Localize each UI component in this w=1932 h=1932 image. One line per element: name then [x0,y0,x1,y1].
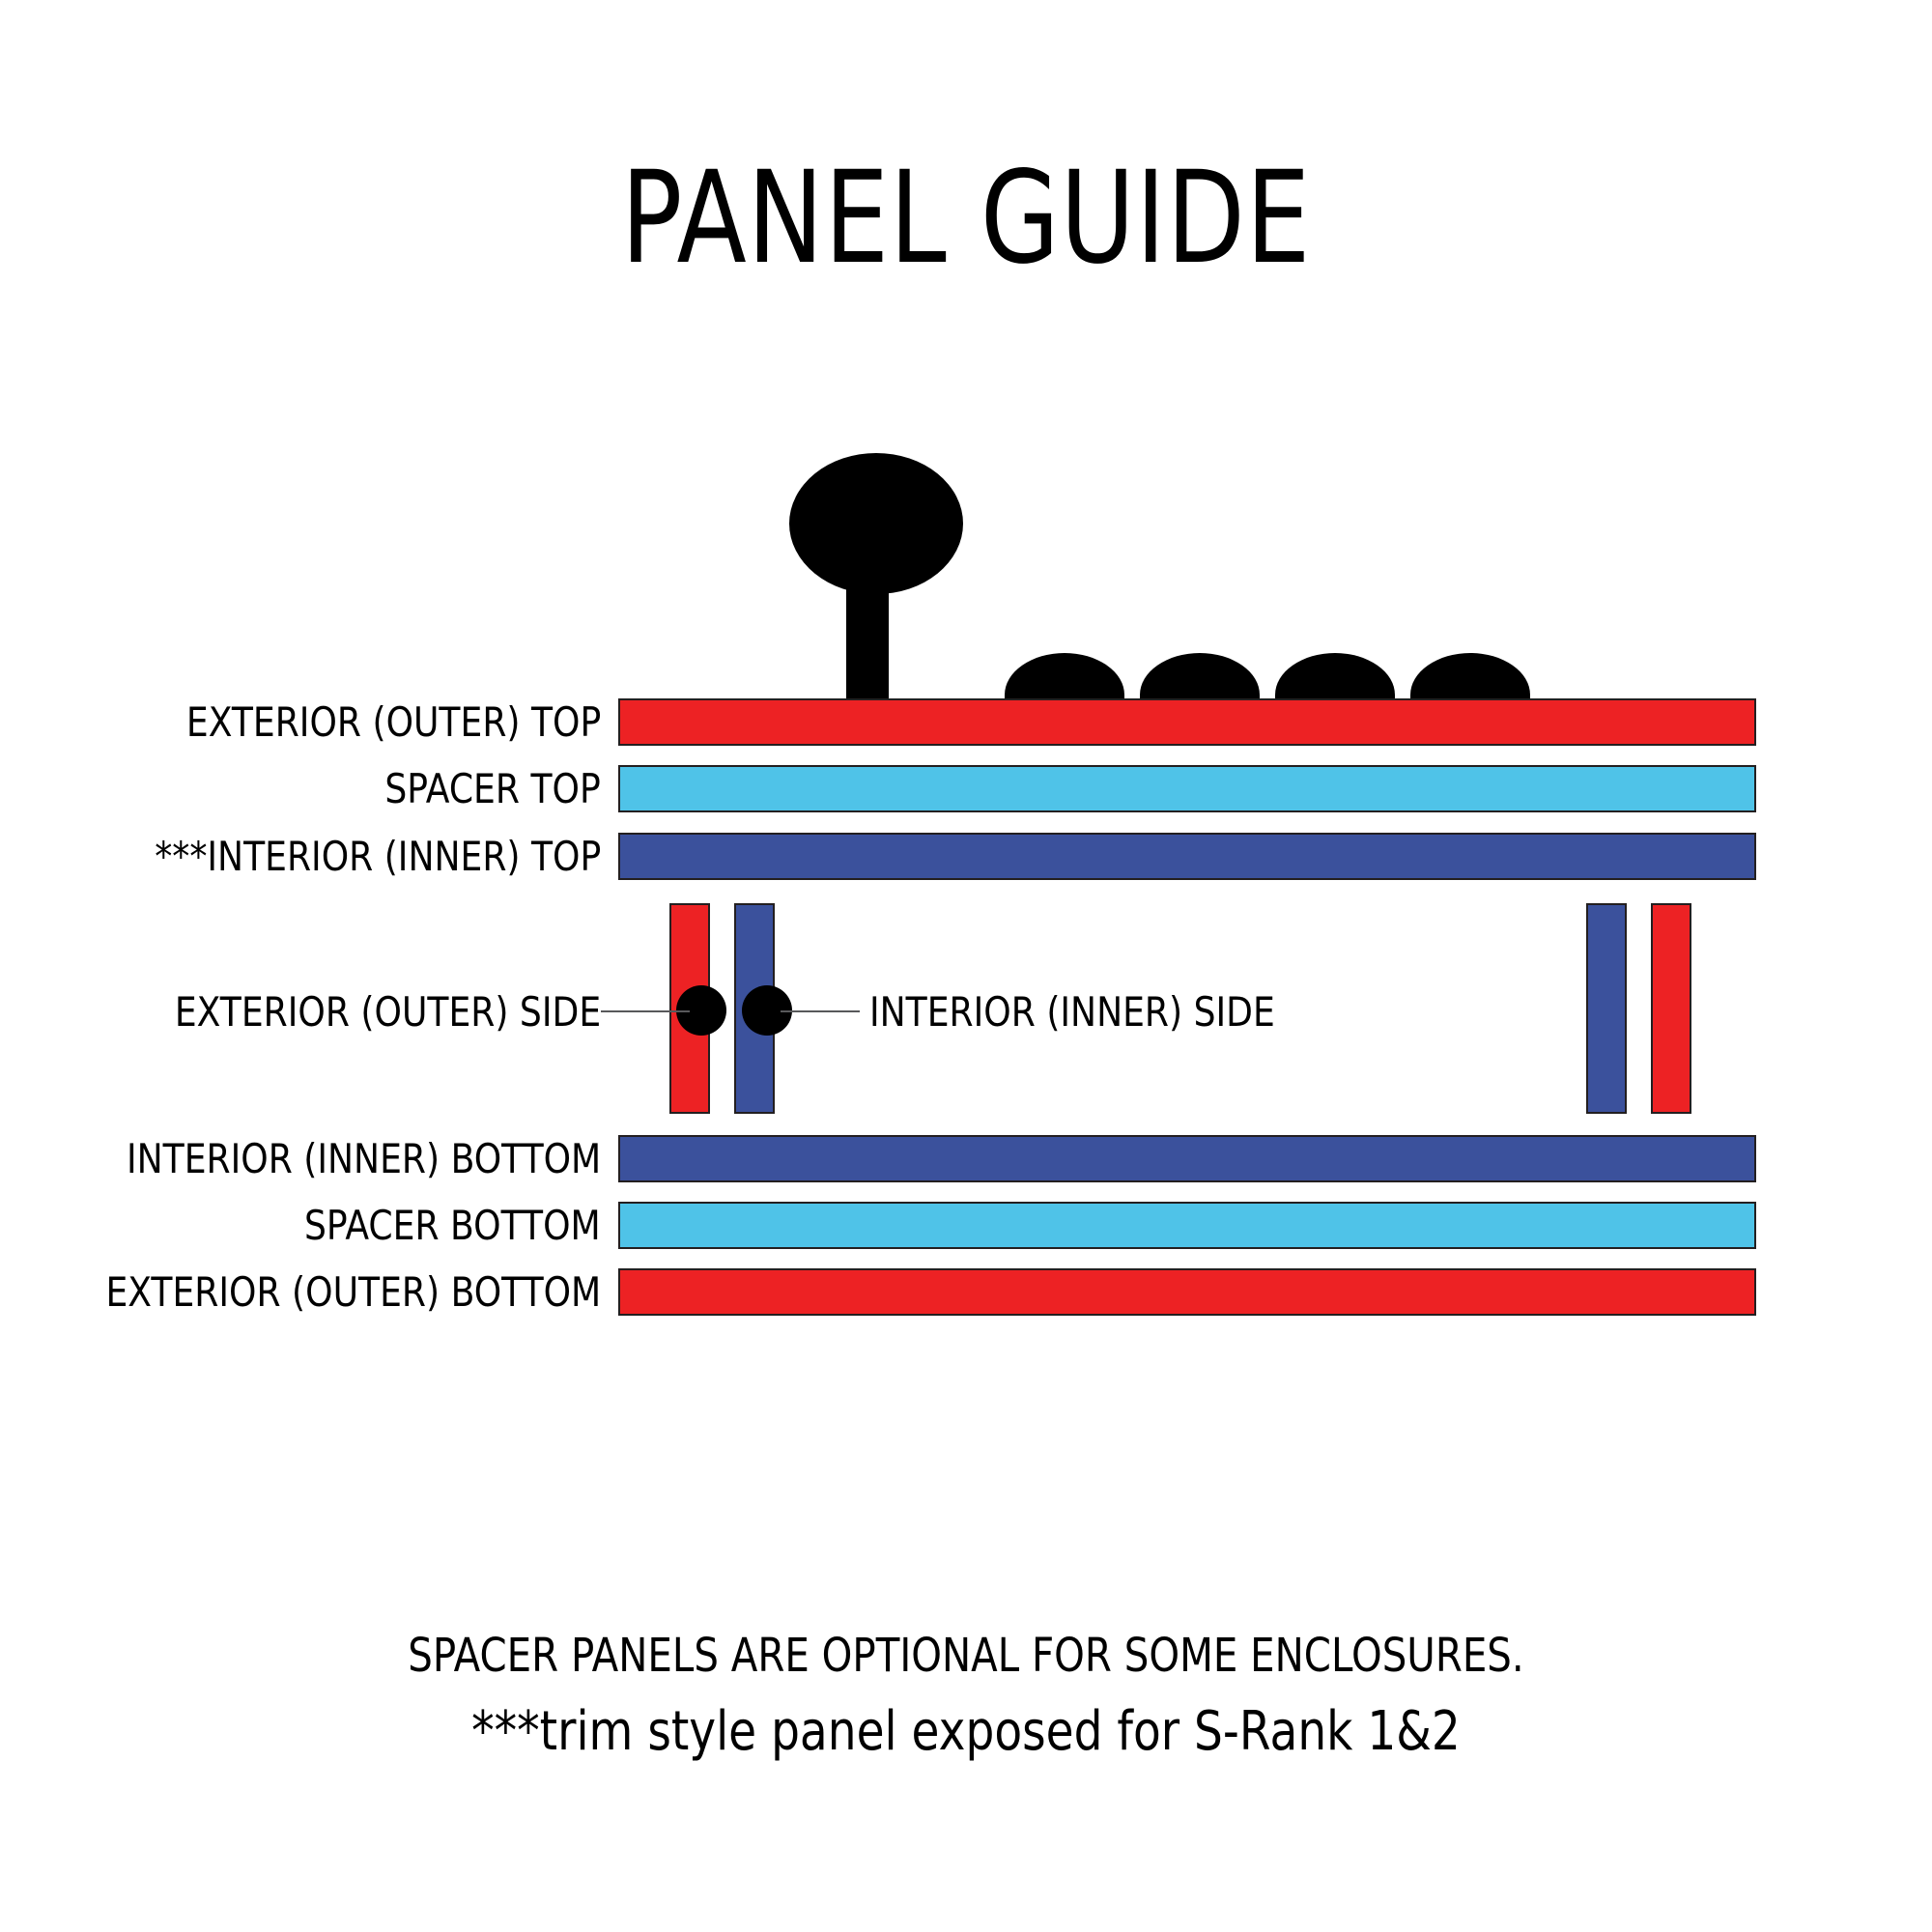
arcade-button-icon-1 [1005,653,1124,699]
arcade-button-icon-2 [1140,653,1260,699]
panel-bar-spacer-bottom [618,1202,1756,1249]
panel-label-exterior-side: EXTERIOR (OUTER) SIDE [175,992,601,1033]
panel-bar-exterior-top [618,698,1756,746]
panel-label-exterior-top: EXTERIOR (OUTER) TOP [186,702,601,743]
panel-label-spacer-top: SPACER TOP [385,769,601,810]
joystick-shaft-icon [846,570,889,700]
panel-guide-diagram: PANEL GUIDE EXTERIOR (OUTER) TOP SPACER … [0,0,1932,1932]
footnote-trim-style: ***trim style panel exposed for S-Rank 1… [155,1705,1777,1759]
leader-line-exterior-side [601,1010,690,1012]
leader-line-interior-side [781,1010,860,1012]
panel-label-interior-bottom: INTERIOR (INNER) BOTTOM [127,1139,601,1179]
panel-label-spacer-bottom: SPACER BOTTOM [304,1206,601,1246]
arcade-button-icon-4 [1410,653,1530,699]
panel-label-interior-side: INTERIOR (INNER) SIDE [869,992,1275,1033]
panel-bar-spacer-top [618,765,1756,812]
panel-bar-interior-top [618,833,1756,880]
side-rail-exterior-right [1651,903,1691,1114]
panel-bar-interior-bottom [618,1135,1756,1182]
footnote-spacer-optional: SPACER PANELS ARE OPTIONAL FOR SOME ENCL… [155,1633,1777,1679]
panel-label-exterior-bottom: EXTERIOR (OUTER) BOTTOM [105,1272,601,1313]
panel-label-interior-top: ***INTERIOR (INNER) TOP [155,837,601,877]
arcade-button-icon-3 [1275,653,1395,699]
page-title: PANEL GUIDE [193,155,1739,282]
side-rail-interior-right [1586,903,1627,1114]
panel-bar-exterior-bottom [618,1268,1756,1316]
